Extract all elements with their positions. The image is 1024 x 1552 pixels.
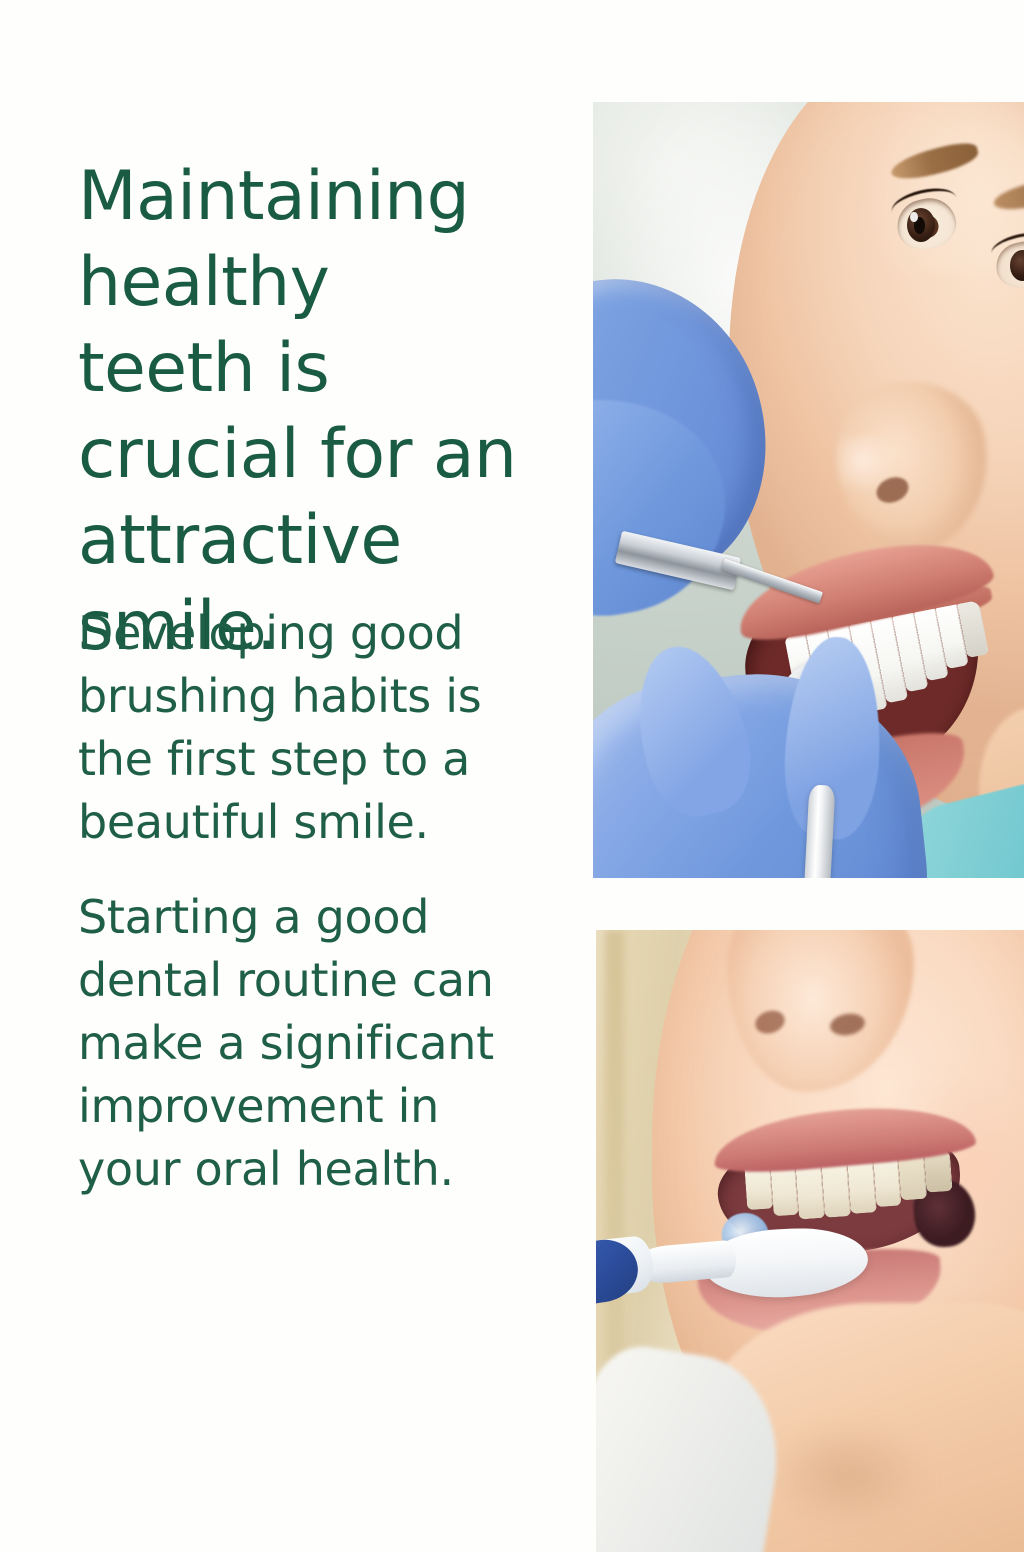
body-paragraph-1: Developing good brushing habits is the f… <box>78 602 503 854</box>
collarbone-shadow <box>755 1415 942 1552</box>
text-column: Maintaining healthy teeth is crucial for… <box>78 0 528 1536</box>
dental-exam-photo <box>593 102 1024 878</box>
body-paragraph-2: Starting a good dental routine can make … <box>78 886 503 1201</box>
poster-canvas: Maintaining healthy teeth is crucial for… <box>0 0 1024 1536</box>
toothbrushing-photo <box>596 930 1024 1552</box>
page-headline: Maintaining healthy teeth is crucial for… <box>78 154 523 670</box>
